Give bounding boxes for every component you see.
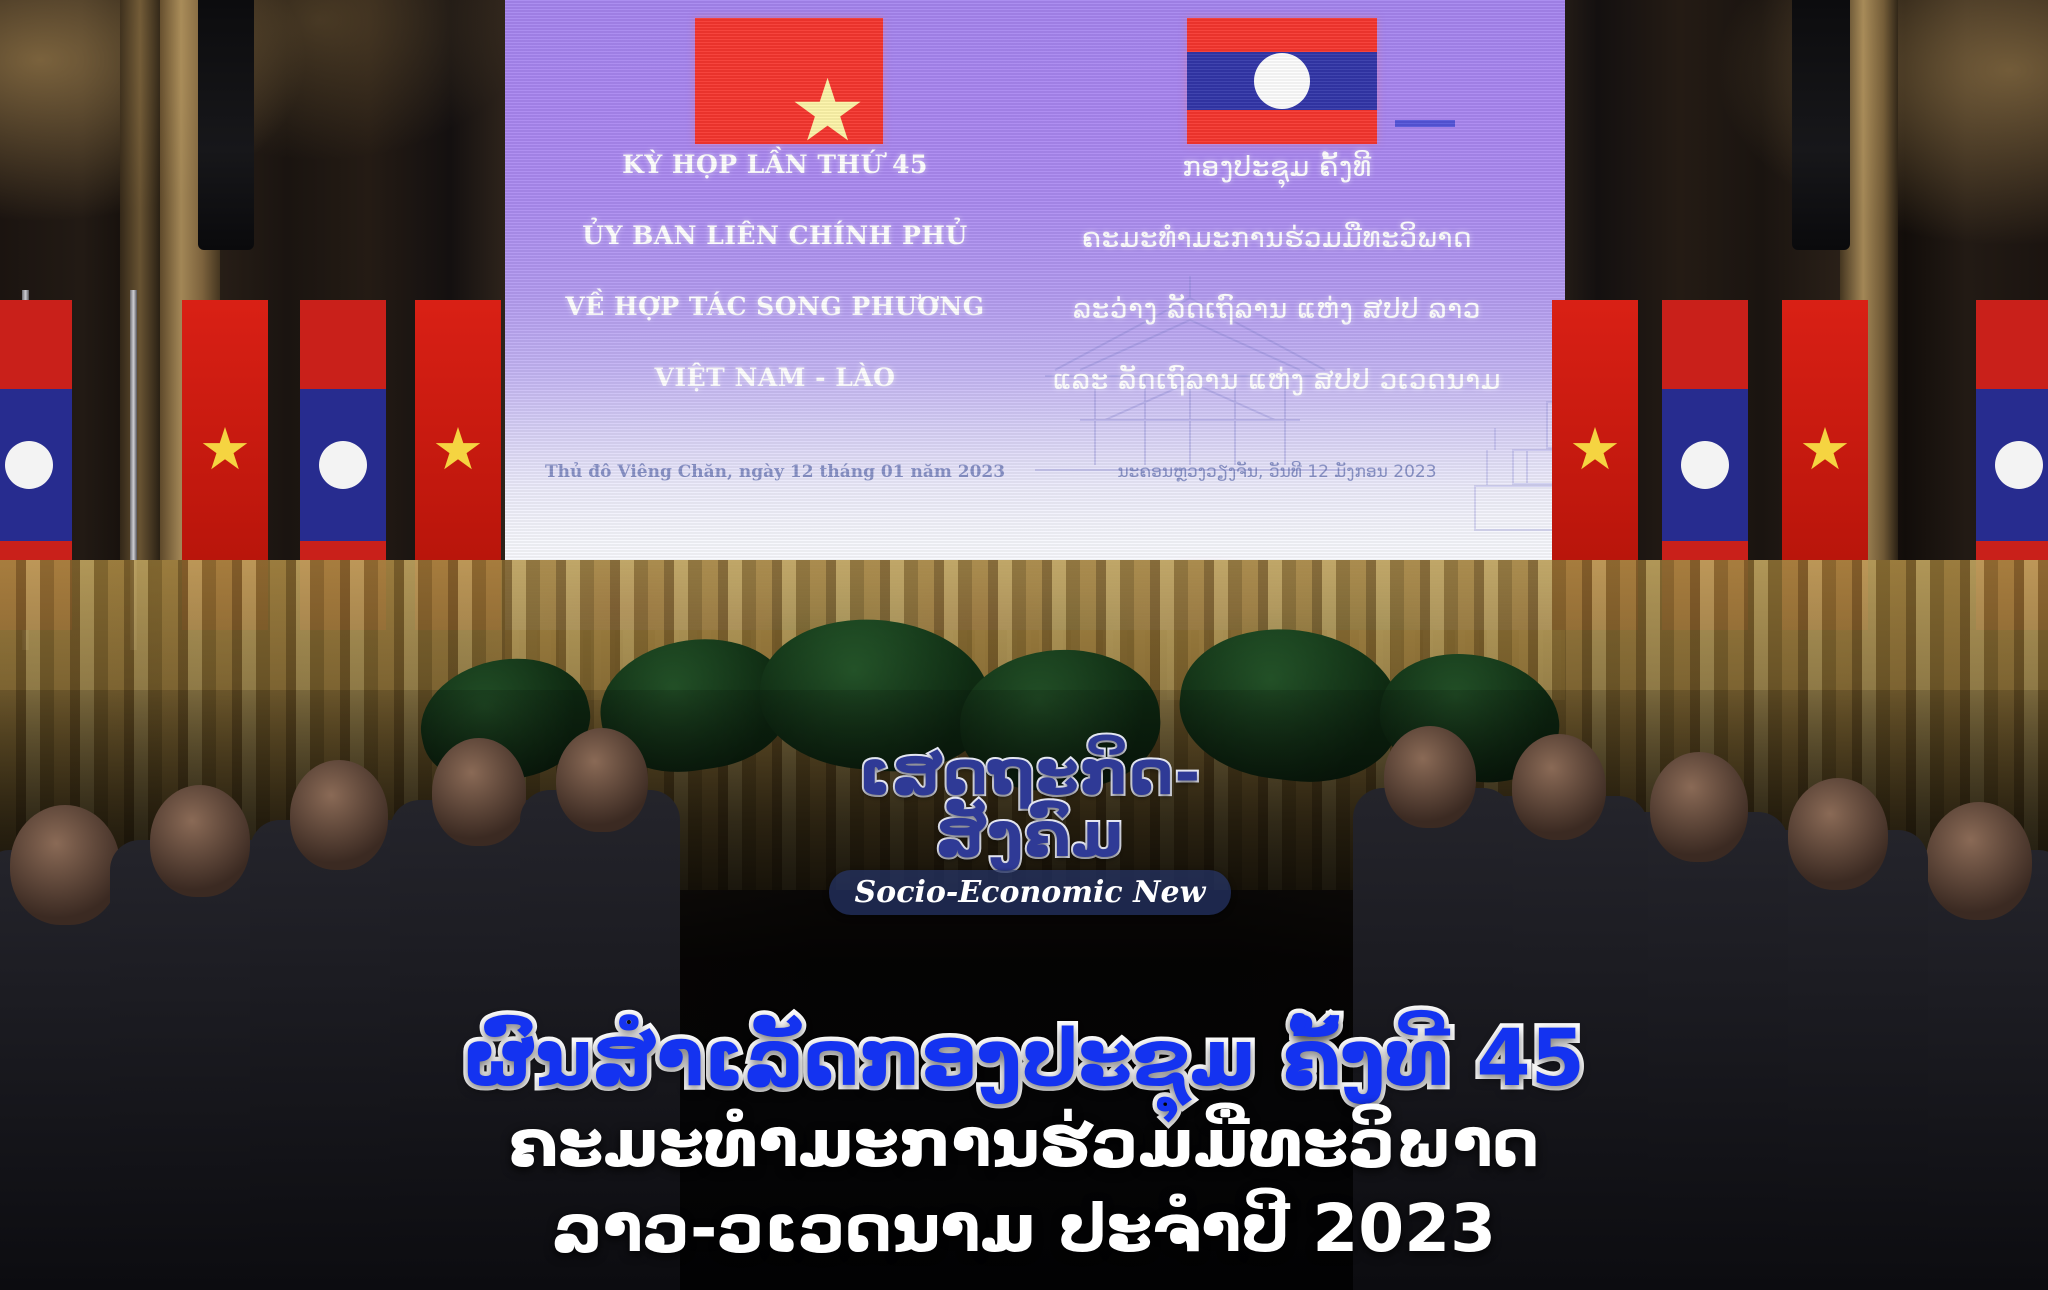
vn-date-line: Thủ đô Viêng Chăn, ngày 12 tháng 01 năm …: [545, 462, 1005, 482]
news-photo-card: ★ KỲ HỌP LẦN THỨ 45 ỦY BAN LIÊN CHÍNH PH…: [0, 0, 2048, 1290]
headline-line-1: ຜົນສຳເລັດກອງປະຊຸມ ຄັ້ງທີ 45: [40, 1016, 2008, 1103]
vn-line-3: VỀ HỢP TÁC SONG PHƯƠNG: [545, 292, 1005, 321]
delegate-head: [1512, 734, 1606, 840]
vn-line-4: VIỆT NAM - LÀO: [545, 363, 1005, 392]
ceiling-speaker-left: [198, 0, 254, 250]
lao-date-line: ນະຄອນຫຼວງວຽງຈັນ, ວັນທີ 12 ມັງກອນ 2023: [1017, 462, 1537, 482]
white-disc-icon: [1254, 53, 1310, 109]
lao-line-4: ແລະ ລັດເຖົລານ ແຫ່ງ ສປປ ວເວດນາມ: [1017, 363, 1537, 396]
caption-headline-block: ຜົນສຳເລັດກອງປະຊຸມ ຄັ້ງທີ 45 ຄະມະທຳມະການຮ…: [0, 1016, 2048, 1270]
led-backdrop-screen: ★ KỲ HỌP LẦN THỨ 45 ỦY BAN LIÊN CHÍNH PH…: [505, 0, 1565, 640]
vietnam-flag-icon: ★: [695, 18, 883, 144]
screen-vietnamese-text: KỲ HỌP LẦN THỨ 45 ỦY BAN LIÊN CHÍNH PHỦ …: [545, 150, 1005, 434]
hall-pillar-left-outer: [120, 0, 160, 560]
ceiling-speaker-right: [1792, 0, 1850, 250]
vn-line-2: ỦY BAN LIÊN CHÍNH PHỦ: [545, 221, 1005, 250]
headline-line-3: ລາວ-ວເວດນາມ ປະຈຳປີ 2023: [40, 1188, 2008, 1271]
vn-line-1: KỲ HỌP LẦN THỨ 45: [545, 150, 1005, 179]
delegate-head: [556, 728, 648, 832]
delegate-head: [10, 805, 120, 925]
delegate-head: [432, 738, 526, 846]
delegate-head: [1650, 752, 1748, 862]
delegate-head: [150, 785, 250, 897]
headline-line-2: ຄະມະທຳມະການຮ່ວມມືທະວິພາດ: [40, 1103, 2008, 1186]
laos-flag-icon: [1187, 18, 1377, 144]
delegate-head: [1384, 726, 1476, 828]
lao-line-3: ລະວ່າງ ລັດເຖົລານ ແຫ່ງ ສປປ ລາວ: [1017, 292, 1537, 325]
delegate-head: [1788, 778, 1888, 890]
lao-line-1: ກອງປະຊຸມ ຄັ້ງທີ: [1017, 150, 1537, 183]
screen-lao-text: ກອງປະຊຸມ ຄັ້ງທີ ຄະມະທຳມະການຮ່ວມມືທະວິພາດ…: [1017, 150, 1537, 434]
decor-blue-bar: [1395, 120, 1455, 127]
delegate-head: [1926, 802, 2032, 920]
lao-line-2: ຄະມະທຳມະການຮ່ວມມືທະວິພາດ: [1017, 221, 1537, 254]
delegate-head: [290, 760, 388, 870]
